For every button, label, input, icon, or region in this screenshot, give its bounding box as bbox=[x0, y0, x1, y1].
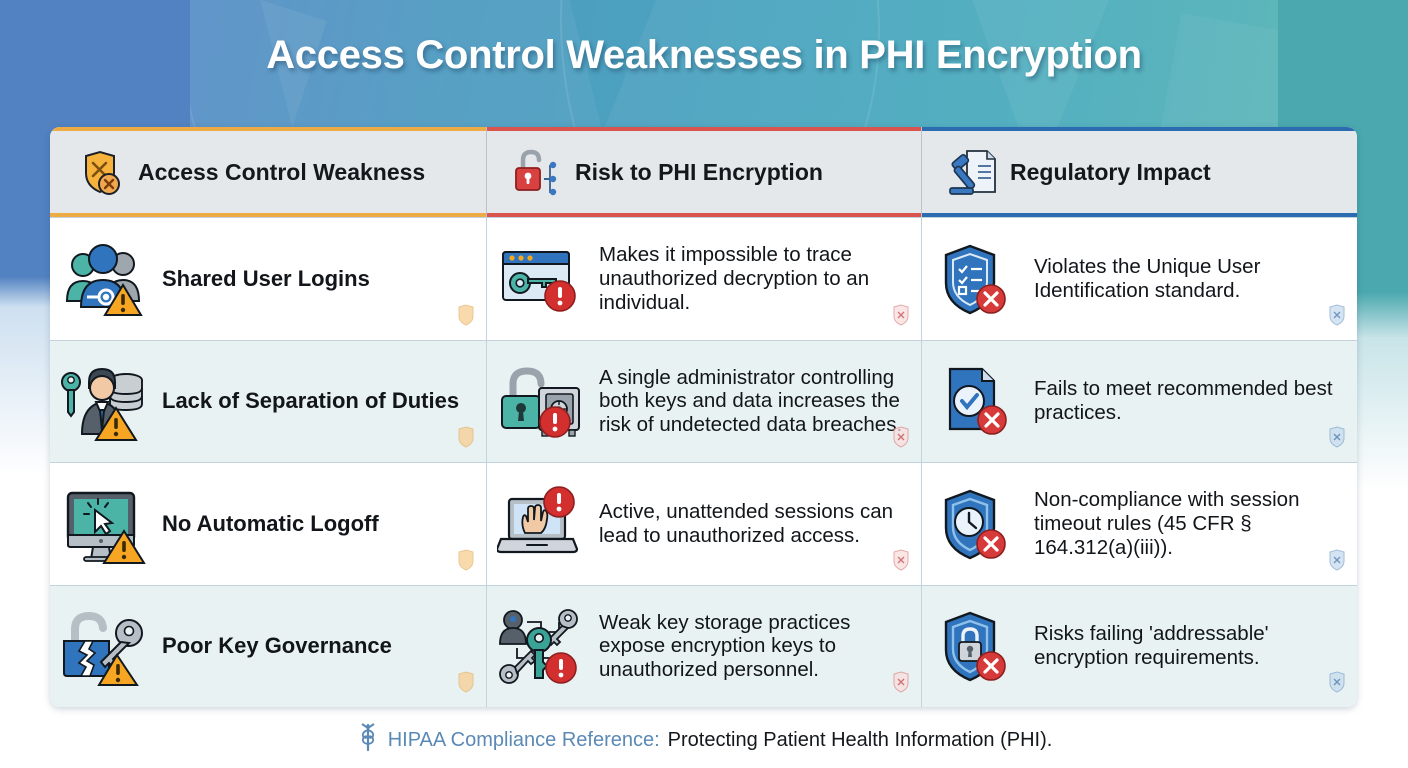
cell-text: Active, unattended sessions can lead to … bbox=[599, 500, 921, 548]
cell-weakness: No Automatic Logoff bbox=[50, 463, 487, 585]
column-header-access-control-weakness: Access Control Weakness bbox=[50, 127, 487, 217]
cell-weakness: Poor Key Governance bbox=[50, 586, 487, 708]
blue-shield-x-icon bbox=[1328, 671, 1346, 698]
footer: HIPAA Compliance Reference: Protecting P… bbox=[0, 722, 1408, 758]
blue-shield-x-icon bbox=[1328, 549, 1346, 576]
cell-text: Fails to meet recommended best practices… bbox=[1034, 377, 1357, 425]
infographic-canvas: Access Control Weaknesses in PHI Encrypt… bbox=[0, 0, 1408, 768]
column-header-risk-to-phi-encryption: Risk to PHI Encryption bbox=[487, 127, 922, 217]
orange-shield-icon bbox=[457, 671, 475, 698]
table-row: Shared User Logins bbox=[50, 217, 1357, 340]
unlocked-padlock-network-icon bbox=[501, 146, 575, 198]
cell-impact: Fails to meet recommended best practices… bbox=[922, 341, 1357, 463]
gavel-document-icon bbox=[936, 145, 1010, 199]
admin-key-database-warning-icon bbox=[50, 360, 162, 442]
caduceus-icon bbox=[356, 722, 380, 758]
red-shield-x-icon bbox=[892, 304, 910, 331]
footer-label: HIPAA Compliance Reference: bbox=[388, 729, 660, 752]
cell-text: Violates the Unique User Identification … bbox=[1034, 255, 1357, 303]
blue-shield-x-icon bbox=[1328, 304, 1346, 331]
cell-text: Poor Key Governance bbox=[162, 633, 408, 659]
red-shield-x-icon bbox=[892, 549, 910, 576]
document-check-x-icon bbox=[922, 361, 1034, 441]
table-row: Lack of Separation of Duties bbox=[50, 340, 1357, 463]
table-row: Poor Key Governance bbox=[50, 585, 1357, 708]
padlock-safe-alert-icon bbox=[487, 360, 599, 442]
cell-weakness: Shared User Logins bbox=[50, 218, 487, 340]
red-shield-x-icon bbox=[892, 671, 910, 698]
cell-impact: Non-compliance with session timeout rule… bbox=[922, 463, 1357, 585]
monitor-cursor-warning-icon bbox=[50, 483, 162, 565]
column-header-label: Risk to PHI Encryption bbox=[575, 159, 823, 186]
page-title: Access Control Weaknesses in PHI Encrypt… bbox=[0, 33, 1408, 78]
footer-text: Protecting Patient Health Information (P… bbox=[668, 729, 1053, 752]
orange-shield-icon bbox=[457, 304, 475, 331]
shield-clock-x-icon bbox=[922, 484, 1034, 564]
cell-text: Makes it impossible to trace unauthorize… bbox=[599, 243, 921, 314]
cell-impact: Risks failing 'addressable' encryption r… bbox=[922, 586, 1357, 708]
shield-x-icon bbox=[64, 146, 138, 198]
cell-text: Non-compliance with session timeout rule… bbox=[1034, 488, 1357, 559]
blue-shield-x-icon bbox=[1328, 426, 1346, 453]
orange-shield-icon bbox=[457, 549, 475, 576]
orange-shield-icon bbox=[457, 426, 475, 453]
comparison-table: Access Control Weakness bbox=[50, 127, 1357, 707]
red-shield-x-icon bbox=[892, 426, 910, 453]
shield-checklist-x-icon bbox=[922, 239, 1034, 319]
browser-window-key-alert-icon bbox=[487, 240, 599, 318]
user-keys-alert-icon bbox=[487, 606, 599, 686]
cell-weakness: Lack of Separation of Duties bbox=[50, 341, 487, 463]
cell-text: Risks failing 'addressable' encryption r… bbox=[1034, 622, 1357, 670]
column-header-label: Access Control Weakness bbox=[138, 159, 425, 186]
cell-risk: Makes it impossible to trace unauthorize… bbox=[487, 218, 922, 340]
table-header-row: Access Control Weakness bbox=[50, 127, 1357, 217]
column-header-label: Regulatory Impact bbox=[1010, 159, 1211, 186]
column-header-regulatory-impact: Regulatory Impact bbox=[922, 127, 1357, 217]
cell-risk: Weak key storage practices expose encryp… bbox=[487, 586, 922, 708]
cell-text: A single administrator controlling both … bbox=[599, 366, 921, 437]
laptop-hand-alert-icon bbox=[487, 485, 599, 563]
cell-risk: Active, unattended sessions can lead to … bbox=[487, 463, 922, 585]
cell-text: Shared User Logins bbox=[162, 266, 386, 292]
table-row: No Automatic Logoff bbox=[50, 462, 1357, 585]
shield-lock-x-icon bbox=[922, 606, 1034, 686]
cell-risk: A single administrator controlling both … bbox=[487, 341, 922, 463]
cell-text: Lack of Separation of Duties bbox=[162, 388, 475, 414]
cell-text: Weak key storage practices expose encryp… bbox=[599, 611, 921, 682]
cell-impact: Violates the Unique User Identification … bbox=[922, 218, 1357, 340]
broken-padlock-key-warning-icon bbox=[50, 605, 162, 687]
group-users-warning-icon bbox=[50, 239, 162, 319]
cell-text: No Automatic Logoff bbox=[162, 511, 395, 537]
